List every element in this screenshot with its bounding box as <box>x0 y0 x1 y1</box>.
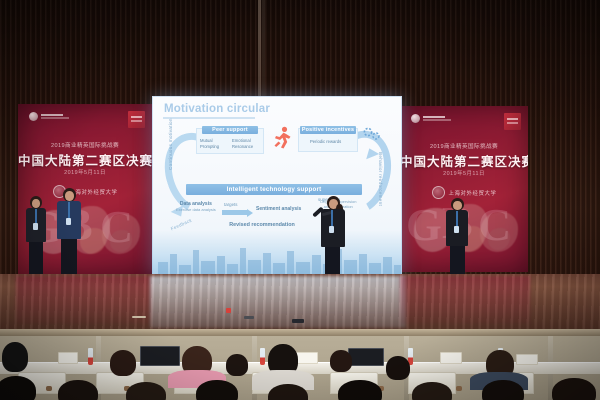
projection-screen: Motivation circular Continuous motivatio… <box>152 96 402 276</box>
water-bottle <box>260 348 265 365</box>
audience-head-foreground <box>412 382 452 400</box>
water-bottle <box>88 348 93 365</box>
team-member-left-1 <box>24 196 48 280</box>
technology-support-heading: Intelligent technology support <box>186 184 362 195</box>
sentiment-analysis-item: Sentiment analysis <box>256 206 301 212</box>
conference-stage-photo: 2019商业精英国际挑战赛 中国大陆第二赛区决赛 2019年5月11日 上海对外… <box>0 0 600 400</box>
audience-head-foreground <box>126 382 166 400</box>
laptop <box>140 346 180 366</box>
seat-knob <box>456 386 462 391</box>
audience-head-foreground <box>482 380 524 400</box>
revised-recommendation-label: Revised recommendation <box>202 222 322 228</box>
peer-support-sub-1: Mutual <box>200 138 213 143</box>
team-member-right-1 <box>444 198 470 284</box>
banner-art-letter: G <box>406 198 442 251</box>
banner-title: 中国大陆第二赛区决赛 <box>400 151 528 170</box>
data-analysis-sub: Exercise data analysis <box>176 207 216 212</box>
gears-icon <box>362 126 384 142</box>
floor-prop-strip <box>132 316 146 318</box>
floor-prop-red <box>226 308 231 313</box>
banner-art-letter: C <box>478 198 511 251</box>
team-member-left-2 <box>56 188 82 280</box>
laptop <box>348 348 384 366</box>
flow-arrow-icon <box>222 210 248 215</box>
audience-head-foreground <box>196 380 238 400</box>
audience-head-foreground <box>0 376 36 400</box>
slide-skyline-graphic <box>152 230 402 276</box>
name-card <box>296 352 318 364</box>
audience-head-foreground <box>58 380 98 400</box>
sentiment-analysis-title: Sentiment analysis <box>256 206 301 212</box>
slide-title-underline <box>163 117 255 119</box>
seat-knob <box>46 386 52 391</box>
data-analysis-item: Data analysis Exercise data analysis <box>176 201 216 212</box>
banner-title: 中国大陆第二赛区决赛 <box>18 150 152 169</box>
audience-head <box>2 342 28 372</box>
competition-logo-icon <box>128 111 145 128</box>
audience-head-foreground <box>552 378 596 400</box>
peer-support-sub-4: Resonance <box>232 144 253 149</box>
peer-support-sub-3: Emotional <box>232 138 251 143</box>
audience-area <box>0 336 600 400</box>
running-person-icon <box>272 126 292 150</box>
positive-incentives-heading: Positive incentives <box>300 126 356 134</box>
floor-prop-cable <box>244 316 254 319</box>
positive-incentives-sub: Periodic rewards <box>310 139 341 144</box>
floor-prop-box <box>292 319 304 323</box>
targets-label: targets <box>224 202 237 207</box>
peer-support-sub-2: Prompting <box>200 144 219 149</box>
floor-wood-grain <box>0 274 600 336</box>
audience-head <box>386 356 410 380</box>
stage-front-edge <box>0 329 600 336</box>
sponsor-logo-icon <box>411 114 451 123</box>
competition-logo-icon <box>504 113 521 130</box>
arc-label-right: Behavior reinforcement <box>378 152 383 206</box>
banner-date: 2019年5月11日 <box>400 169 528 177</box>
arc-label-left: Continuous motivation <box>168 118 173 170</box>
name-card <box>58 352 78 364</box>
stage-floor <box>0 274 600 336</box>
name-card <box>440 352 462 364</box>
name-card <box>516 354 538 365</box>
banner-art-letter: C <box>100 200 133 253</box>
audience-head <box>330 350 352 372</box>
peer-support-heading: Peer support <box>202 126 258 134</box>
banner-subtitle: 2019商业精英国际挑战赛 <box>400 142 528 150</box>
audience-head <box>226 354 248 376</box>
slide-title: Motivation circular <box>164 103 270 115</box>
banner-date: 2019年5月11日 <box>18 168 152 176</box>
audience-head-foreground <box>338 380 382 400</box>
audience-head <box>110 350 136 376</box>
sponsor-logo-icon <box>29 112 69 121</box>
banner-subtitle: 2019商业精英国际挑战赛 <box>18 141 152 149</box>
